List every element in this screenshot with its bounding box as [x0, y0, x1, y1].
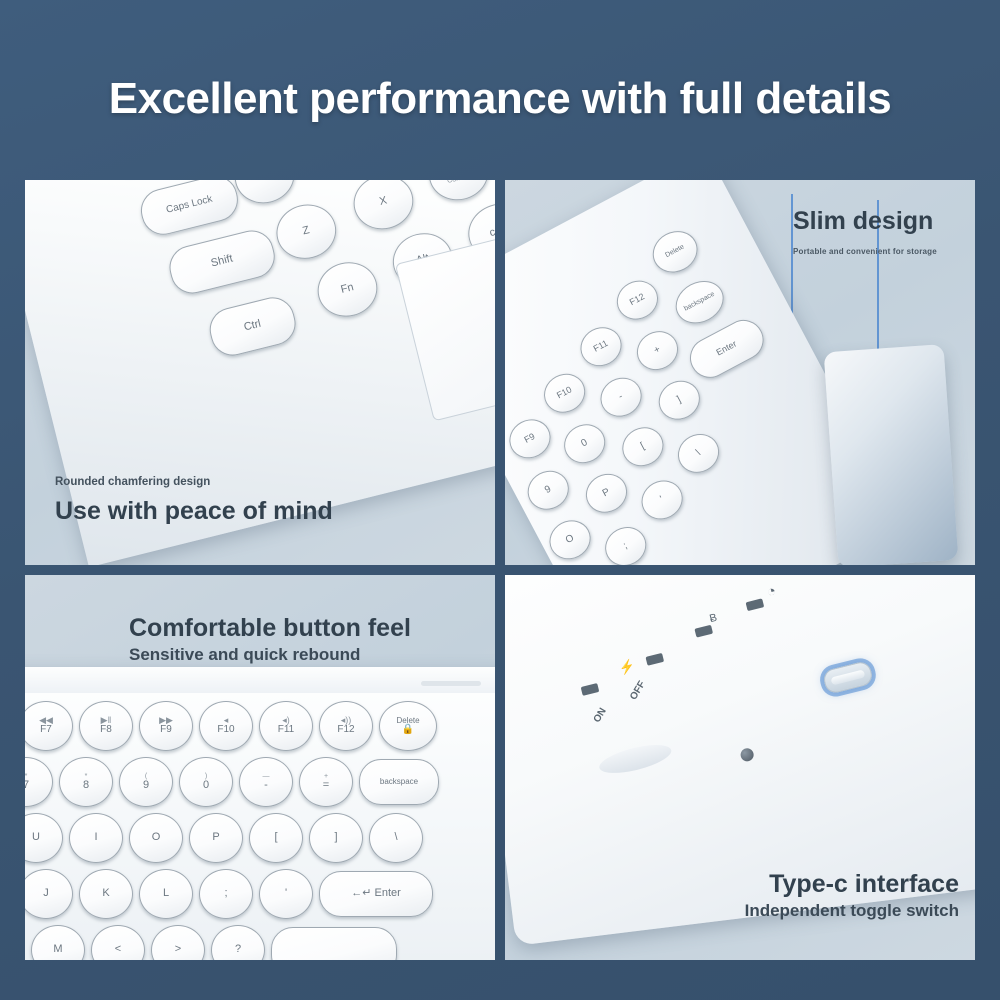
indicator-led-charge: [645, 653, 664, 666]
indicator-led-power: [581, 683, 600, 696]
key-minus: -: [594, 371, 649, 424]
key-greater-than: >: [151, 925, 205, 960]
key-i: I: [69, 813, 123, 863]
panel-button-feel: Comfortable button feel Sensitive and qu…: [25, 575, 495, 960]
key-backslash: \: [369, 813, 423, 863]
key-equal-bottom: =: [323, 780, 329, 792]
type-c-port: [822, 660, 874, 695]
key-0-bottom: 0: [203, 780, 209, 792]
panel-3-subtitle: Sensitive and quick rebound: [129, 646, 411, 665]
key-backspace: backspace: [359, 759, 439, 805]
panel-3-title: Comfortable button feel: [129, 615, 411, 641]
key-m: M: [31, 925, 85, 960]
key-9: ( 9: [119, 757, 173, 807]
key-f9: ▶▶ F9: [139, 701, 193, 751]
foot-bump: [597, 739, 674, 778]
key-u: U: [25, 813, 63, 863]
panel-1-caption: Rounded chamfering design Use with peace…: [55, 476, 333, 524]
reset-pinhole: [739, 747, 755, 763]
switch-label-on: ON: [592, 706, 609, 725]
keyboard-closeup-photo: ◀◀ F7 ▶‖ F8 ▶▶ F9 ◂ F10 ◂) F11 ◂)) F12: [25, 667, 495, 960]
key-f10-label: F10: [217, 725, 234, 736]
key-minus: — -: [239, 757, 293, 807]
key-7: * 7: [25, 757, 53, 807]
type-c-slot: [830, 669, 865, 685]
key-f7: ◀◀ F7: [25, 701, 73, 751]
key-delete-lock: Delete 🔒: [379, 701, 437, 751]
panel-type-c: PgDn ▲ End ▲ ⚡ Ƀ ◔ ON OFF Type-c interfa…: [505, 575, 975, 960]
key-bracket-right: ]: [652, 374, 707, 427]
key-f8: ▶‖ F8: [79, 701, 133, 751]
key-f10: ◂ F10: [199, 701, 253, 751]
indicator-led-bluetooth: [694, 625, 713, 638]
key-f11: ◂) F11: [259, 701, 313, 751]
key-apostrophe: ': [635, 473, 690, 526]
key-f12: F12: [610, 274, 665, 327]
bluetooth-icon: Ƀ: [709, 613, 719, 625]
key-delete: Delete: [645, 223, 704, 280]
key-c-connect: C Connect: [423, 180, 494, 207]
key-a: A: [229, 180, 300, 210]
key-semicolon: ;: [598, 520, 653, 565]
keyboard-notch: [421, 681, 481, 686]
key-9-bottom: 9: [143, 780, 149, 792]
panel-4-title: Type-c interface: [745, 871, 959, 897]
key-7-bottom: 7: [25, 780, 29, 792]
key-plus: +: [630, 324, 685, 377]
panel-2-subtitle: Portable and convenient for storage: [793, 248, 937, 257]
panel-1-title: Use with peace of mind: [55, 498, 333, 524]
key-bracket-right: ]: [309, 813, 363, 863]
key-equal: + =: [299, 757, 353, 807]
feature-panel-grid: Tab A Caps Lock Z X C Connect Shift Fn A…: [25, 180, 975, 975]
key-less-than: <: [91, 925, 145, 960]
key-f12-label: F12: [337, 725, 354, 736]
key-fn: Fn: [312, 256, 383, 323]
panel-slim-design: F9 F10 F11 F12 Delete 9 0 - + backspace …: [505, 180, 975, 565]
key-backspace: backspace: [668, 273, 731, 332]
key-shift: Shift: [165, 226, 279, 298]
key-minus-bottom: -: [264, 780, 268, 792]
switch-label-off: OFF: [628, 679, 648, 702]
key-8-bottom: 8: [83, 780, 89, 792]
key-f9-label: F9: [160, 725, 172, 736]
key-enter: ←↵ Enter: [319, 871, 433, 917]
key-p: P: [579, 467, 634, 520]
key-z: Z: [271, 198, 342, 265]
key-caps-lock: Caps Lock: [136, 180, 242, 239]
panel-2-caption: Slim design Portable and convenient for …: [793, 208, 937, 257]
panel-4-subtitle: Independent toggle switch: [745, 902, 959, 921]
folded-keyboard-slab: [824, 344, 959, 565]
key-question: ?: [211, 925, 265, 960]
key-enter-label: Enter: [374, 888, 400, 900]
key-bracket-left: [: [249, 813, 303, 863]
key-x: X: [348, 180, 419, 236]
key-9: 9: [521, 464, 576, 517]
key-ctrl: Ctrl: [205, 293, 300, 360]
key-apostrophe: ': [259, 869, 313, 919]
panel-4-caption: Type-c interface Independent toggle swit…: [745, 871, 959, 921]
key-f11-label: F11: [278, 725, 295, 736]
key-f12: ◂)) F12: [319, 701, 373, 751]
wifi-icon: ◔: [765, 583, 777, 600]
charging-icon: ⚡: [618, 659, 637, 676]
key-8: * 8: [59, 757, 113, 807]
page-title: Excellent performance with full details: [0, 74, 1000, 124]
key-0: ) 0: [179, 757, 233, 807]
key-o: O: [129, 813, 183, 863]
keyboard-top-lip: [25, 667, 495, 693]
key-c-sublabel: Connect: [447, 180, 474, 185]
key-semicolon: ;: [199, 869, 253, 919]
key-j: J: [25, 869, 73, 919]
lock-icon: 🔒: [402, 725, 414, 736]
indicator-led-wifi: [746, 598, 765, 611]
panel-2-title: Slim design: [793, 208, 937, 234]
key-f10: F10: [537, 367, 592, 420]
key-backslash: \: [671, 427, 726, 480]
key-p: P: [189, 813, 243, 863]
panel-rounded-chamfer: Tab A Caps Lock Z X C Connect Shift Fn A…: [25, 180, 495, 565]
key-l: L: [139, 869, 193, 919]
key-f11: F11: [574, 320, 629, 373]
key-0: 0: [557, 417, 612, 470]
panel-3-caption: Comfortable button feel Sensitive and qu…: [129, 615, 411, 665]
key-f7-label: F7: [40, 725, 52, 736]
key-f8-label: F8: [100, 725, 112, 736]
key-shift-right: ⇧ Shift: [271, 927, 397, 960]
key-k: K: [79, 869, 133, 919]
key-f9: F9: [505, 412, 557, 465]
panel-1-subtitle: Rounded chamfering design: [55, 476, 333, 489]
key-o: O: [543, 513, 598, 565]
key-bracket-left: [: [615, 420, 670, 473]
